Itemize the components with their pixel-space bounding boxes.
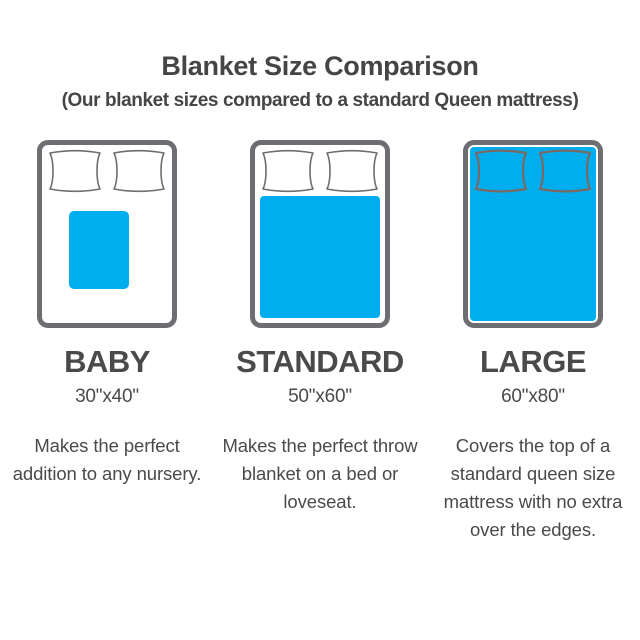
size-dimensions-large: 60"x80" <box>501 386 565 408</box>
pillow-left-icon <box>46 149 104 193</box>
header: Blanket Size Comparison (Our blanket siz… <box>0 0 640 112</box>
page-subtitle: (Our blanket sizes compared to a standar… <box>0 90 640 112</box>
comparison-item-baby: BABY 30"x40" Makes the perfect addition … <box>1 140 214 488</box>
bed-diagram-baby <box>37 140 177 328</box>
pillow-left-icon <box>472 149 530 193</box>
size-name-large: LARGE <box>480 346 586 377</box>
size-name-baby: BABY <box>64 346 150 377</box>
mattress-outline <box>250 140 390 328</box>
size-description-large: Covers the top of a standard queen size … <box>435 432 631 544</box>
pillow-right-icon <box>110 149 168 193</box>
size-dimensions-standard: 50"x60" <box>288 386 352 408</box>
mattress-outline <box>37 140 177 328</box>
size-dimensions-baby: 30"x40" <box>75 386 139 408</box>
comparison-item-standard: STANDARD 50"x60" Makes the perfect throw… <box>214 140 427 516</box>
bed-diagram-large <box>463 140 603 328</box>
comparison-item-large: LARGE 60"x80" Covers the top of a standa… <box>427 140 640 544</box>
size-name-standard: STANDARD <box>236 346 404 377</box>
pillow-right-icon <box>536 149 594 193</box>
bed-diagram-standard <box>250 140 390 328</box>
pillow-left-icon <box>259 149 317 193</box>
pillow-group <box>46 149 168 193</box>
size-description-standard: Makes the perfect throw blanket on a bed… <box>222 432 418 516</box>
page-title: Blanket Size Comparison <box>0 52 640 82</box>
pillow-right-icon <box>323 149 381 193</box>
blanket-area-baby <box>69 211 129 289</box>
pillow-group <box>472 149 594 193</box>
pillow-group <box>259 149 381 193</box>
size-description-baby: Makes the perfect addition to any nurser… <box>9 432 205 488</box>
blanket-size-comparison-infographic: Blanket Size Comparison (Our blanket siz… <box>0 0 640 640</box>
comparison-columns: BABY 30"x40" Makes the perfect addition … <box>0 140 640 544</box>
blanket-area-standard <box>260 196 380 318</box>
mattress-outline <box>463 140 603 328</box>
